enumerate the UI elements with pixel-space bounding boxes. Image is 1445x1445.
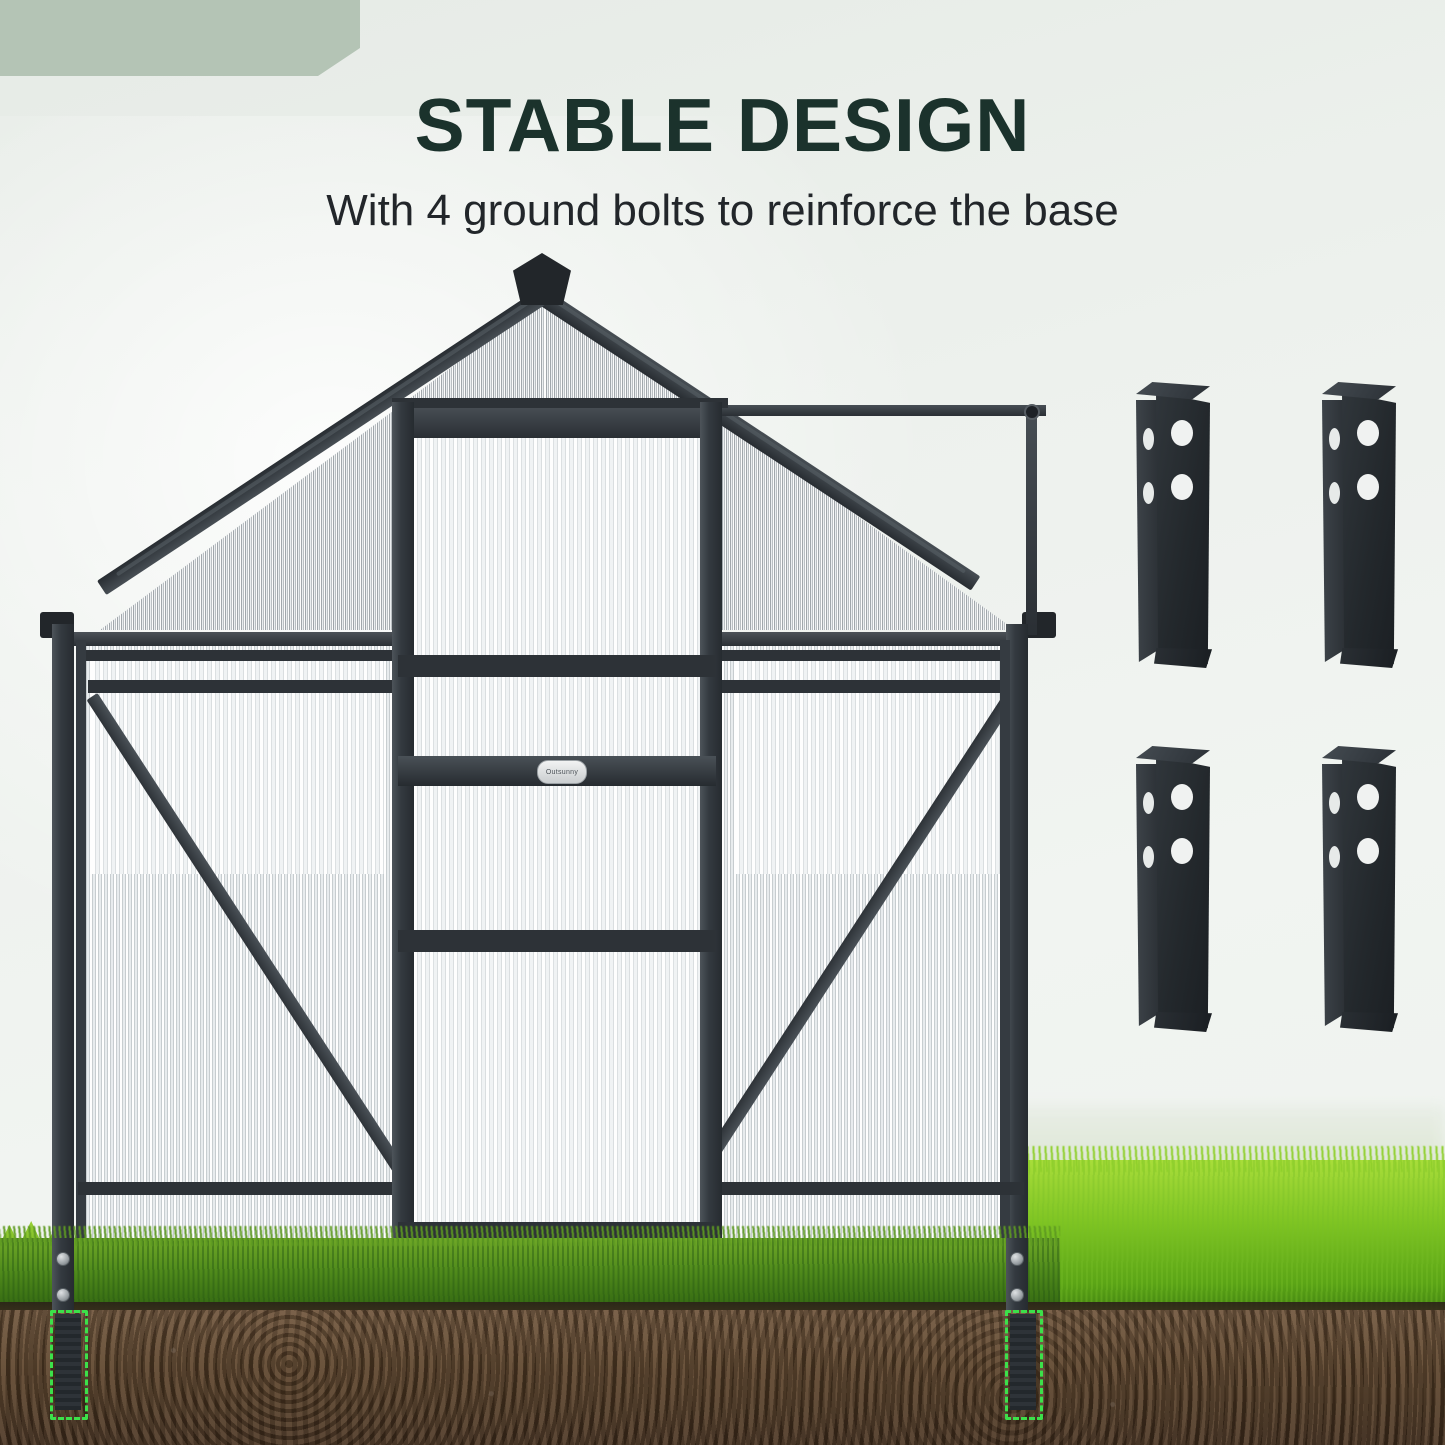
door-rail-upper xyxy=(398,655,716,677)
ground-bolt-post-2 xyxy=(1322,378,1396,668)
wall-rail-left-bottom xyxy=(78,1182,396,1195)
bolt-hole-front-1 xyxy=(1171,420,1193,446)
bolt-hole-side-1 xyxy=(1329,792,1340,814)
roof-vent-support-post xyxy=(1026,410,1037,635)
roof-apex-cap xyxy=(513,253,571,305)
wall-rail-right-top xyxy=(722,650,1024,661)
ground-bolt-post-3 xyxy=(1136,742,1210,1032)
leg-bolt-right-1 xyxy=(1010,1252,1024,1266)
door-lintel xyxy=(392,398,728,408)
bolt-hole-side-2 xyxy=(1329,846,1340,868)
leg-bolt-right-2 xyxy=(1010,1288,1024,1302)
bolt-hole-side-1 xyxy=(1143,428,1154,450)
bolt-hole-front-2 xyxy=(1357,474,1379,500)
door-glazing[interactable] xyxy=(398,410,716,1260)
inner-post-left xyxy=(76,640,86,1266)
soil-cross-section xyxy=(0,1310,1445,1445)
bolt-hole-side-2 xyxy=(1143,846,1154,868)
anchor-highlight-left xyxy=(50,1310,88,1420)
ground-bolt-foot xyxy=(1340,648,1398,668)
anchor-highlight-right xyxy=(1005,1310,1043,1420)
bolt-hole-front-1 xyxy=(1357,784,1379,810)
wall-rail-right-second xyxy=(722,680,1024,693)
bolt-hole-side-2 xyxy=(1143,482,1154,504)
bolt-hole-side-1 xyxy=(1143,792,1154,814)
wall-rail-left-top xyxy=(78,650,396,661)
ground-bolt-post-1 xyxy=(1136,378,1210,668)
ground-bolt-foot xyxy=(1154,648,1212,668)
door-stile-right[interactable] xyxy=(700,402,722,1264)
bolt-hole-front-2 xyxy=(1171,474,1193,500)
roof-vent-top-bar xyxy=(718,405,1046,416)
door-rail-lower xyxy=(398,930,716,952)
leg-bolt-left-1 xyxy=(56,1252,70,1266)
bolt-hole-side-2 xyxy=(1329,482,1340,504)
ground-bolt-post-4 xyxy=(1322,742,1396,1032)
product-feature-image: STABLE DESIGN With 4 ground bolts to rei… xyxy=(0,0,1445,1445)
bolt-hole-front-1 xyxy=(1171,784,1193,810)
inner-post-right xyxy=(1000,640,1010,1266)
bolt-hole-front-2 xyxy=(1357,838,1379,864)
wall-rail-right-bottom xyxy=(722,1182,1024,1195)
door-stile-left[interactable] xyxy=(392,402,414,1264)
ground-bolt-foot xyxy=(1154,1012,1212,1032)
door-brand-badge: Outsunny xyxy=(537,760,587,784)
ground-bolt-foot xyxy=(1340,1012,1398,1032)
roof-vent-hinge-knob xyxy=(1024,404,1040,420)
corner-post-left xyxy=(52,624,74,1272)
greenhouse-illustration: Outsunny xyxy=(0,0,1445,1445)
wall-rail-left-second xyxy=(88,680,394,693)
bolt-hole-front-2 xyxy=(1171,838,1193,864)
bolt-hole-side-1 xyxy=(1329,428,1340,450)
leg-bolt-left-2 xyxy=(56,1288,70,1302)
bolt-hole-front-1 xyxy=(1357,420,1379,446)
